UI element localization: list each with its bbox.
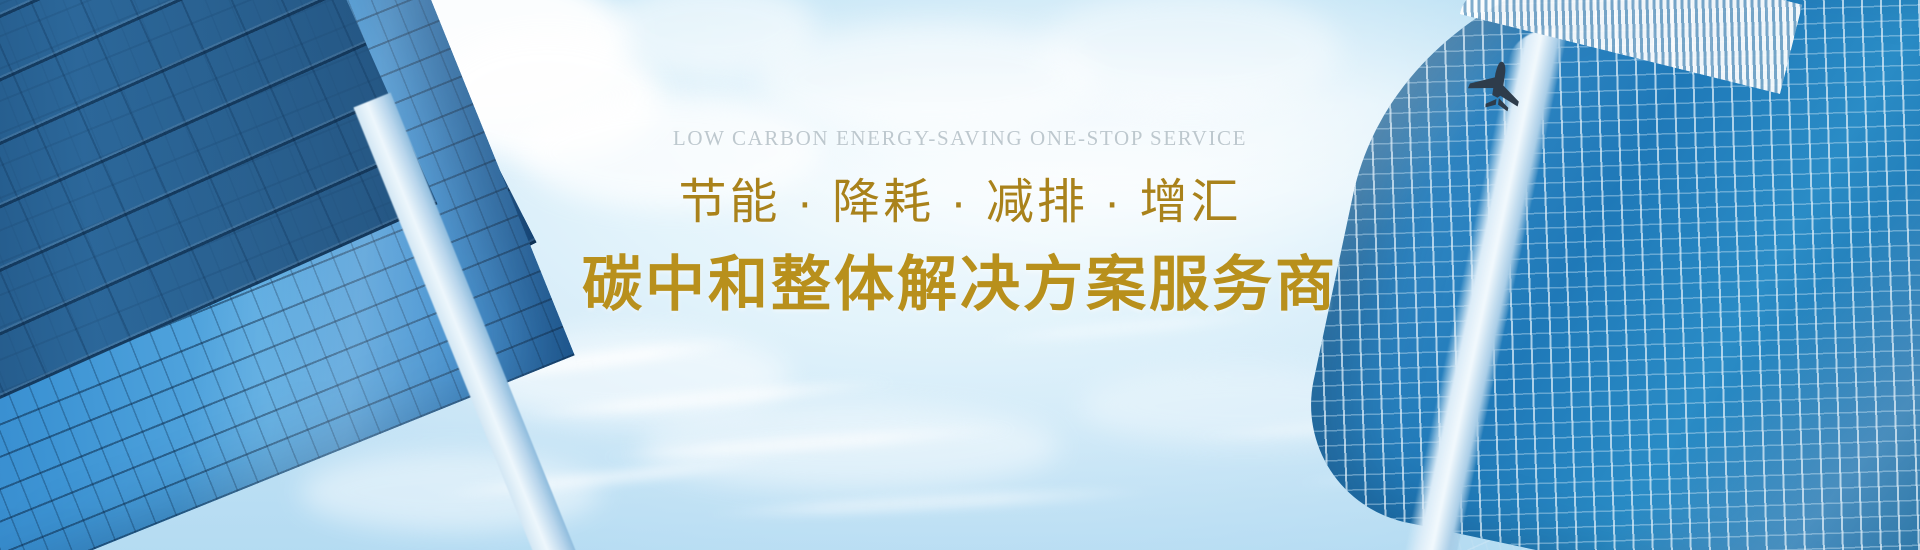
banner-text-block: LOW CARBON ENERGY-SAVING ONE-STOP SERVIC…: [0, 128, 1920, 322]
hero-banner: LOW CARBON ENERGY-SAVING ONE-STOP SERVIC…: [0, 0, 1920, 550]
headline-chinese: 碳中和整体解决方案服务商: [0, 247, 1920, 322]
tagline-english: LOW CARBON ENERGY-SAVING ONE-STOP SERVIC…: [0, 128, 1920, 149]
tagline-chinese: 节能 · 降耗 · 减排 · 增汇: [0, 173, 1920, 233]
